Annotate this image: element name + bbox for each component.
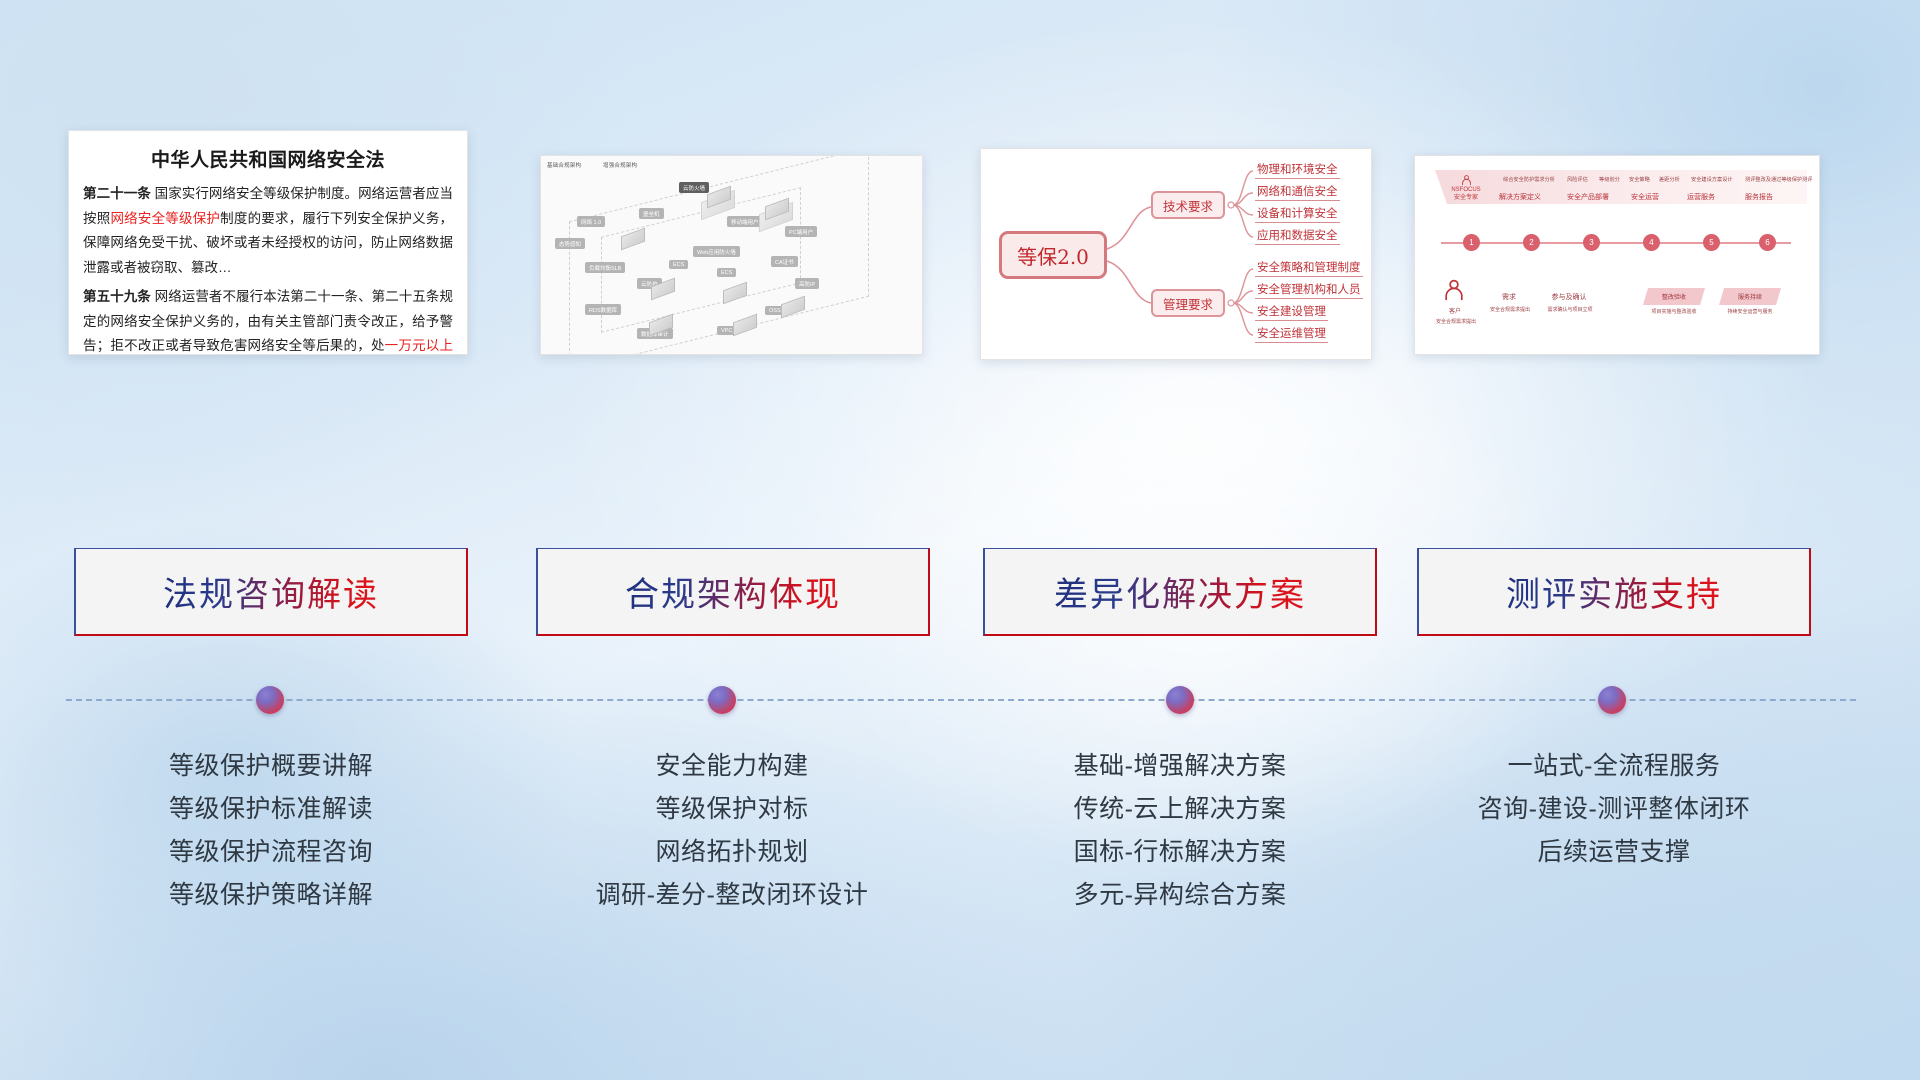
roadmap-step-1[interactable]: 2 — [1523, 234, 1540, 251]
list-item: 基础-增强解决方案 — [980, 745, 1380, 788]
arch-pill-node-8: Web应用防火墙 — [693, 246, 740, 257]
timeline-node-3[interactable] — [1166, 686, 1194, 714]
roadmap-foot-title-1: 参与及确认 — [1541, 292, 1597, 302]
roadmap-step-3[interactable]: 4 — [1643, 234, 1660, 251]
law-body: 第二十一条 国家实行网络安全等级保护制度。网络运营者应当按照网络安全等级保护制度… — [69, 182, 467, 355]
list-item: 咨询-建设-测评整体闭环 — [1414, 788, 1814, 831]
timeline-dashed-line — [66, 699, 1856, 701]
roadmap-top-label-7: 测评整改及通过等级保护测评 — [1745, 176, 1812, 183]
card-architecture-diagram[interactable]: 基础合规架构 增强合规架构 云防火墙 堡垒机 网络 1.0 态势感知 负载均衡S… — [540, 155, 923, 355]
roadmap-step-5[interactable]: 6 — [1759, 234, 1776, 251]
timeline-node-circle-2 — [708, 686, 736, 714]
roadmap-timeline-line — [1441, 242, 1791, 244]
arch-header-right: 增强合规架构 — [603, 161, 637, 169]
arch-pill-node-0: 堡垒机 — [639, 208, 664, 219]
mindmap-leaf-tech-0: 物理和环境安全 — [1255, 161, 1340, 179]
list-item: 网络拓扑规划 — [532, 831, 932, 874]
roadmap-service-4: 服务报告 — [1745, 192, 1773, 202]
architecture-canvas: 基础合规架构 增强合规架构 云防火墙 堡垒机 网络 1.0 态势感知 负载均衡S… — [541, 156, 922, 354]
arch-pill-node-5: 网络 1.0 — [577, 216, 605, 227]
arch-pill-node-10: ECS — [717, 268, 736, 277]
law-article-59-label: 第五十九条 — [83, 289, 151, 304]
list-item: 多元-异构综合方案 — [980, 874, 1380, 917]
roadmap-canvas: NSFOCUS 安全专家 综合安全防护需求分析 风险评估 等级划分 安全策略 差… — [1415, 156, 1819, 354]
list-item: 安全能力构建 — [532, 745, 932, 788]
card-roadmap[interactable]: NSFOCUS 安全专家 综合安全防护需求分析 风险评估 等级划分 安全策略 差… — [1414, 155, 1820, 355]
roadmap-top-label-5: 安全建设方案设计 — [1691, 176, 1733, 183]
roadmap-foot-title-0: 需求 — [1489, 292, 1529, 302]
roadmap-chip-2: 整改验收 — [1643, 288, 1705, 305]
banner-label-0: 法规咨询解读 — [163, 567, 379, 616]
roadmap-service-0: 解决方案定义 — [1499, 192, 1541, 202]
list-item: 国标-行标解决方案 — [980, 831, 1380, 874]
roadmap-top-label-0: 综合安全防护需求分析 — [1503, 176, 1555, 183]
roadmap-foot-sub-3: 持续安全运营与服务 — [1709, 308, 1791, 315]
card-law-text[interactable]: 中华人民共和国网络安全法 第二十一条 国家实行网络安全等级保护制度。网络运营者应… — [68, 130, 468, 355]
arch-pill-firewall: 云防火墙 — [679, 182, 709, 193]
law-article-21: 第二十一条 国家实行网络安全等级保护制度。网络运营者应当按照网络安全等级保护制度… — [83, 182, 453, 280]
feature-list-2: 安全能力构建 等级保护对标 网络拓扑规划 调研-差分-整改闭环设计 — [532, 745, 932, 917]
mindmap-leaf-mgmt-3: 安全运维管理 — [1255, 325, 1328, 343]
law-article-21-highlight: 网络安全等级保护 — [110, 211, 220, 226]
law-article-59: 第五十九条 网络运营者不履行本法第二十一条、第二十五条规定的网络安全保护义务的，… — [83, 285, 453, 355]
arch-pill-node-11: CA证书 — [771, 256, 798, 267]
feature-list-1: 等级保护概要讲解 等级保护标准解读 等级保护流程咨询 等级保护策略详解 — [71, 745, 471, 917]
arch-pill-node-9: 负载均衡SLB — [585, 262, 625, 273]
law-title: 中华人民共和国网络安全法 — [69, 145, 467, 172]
list-item: 一站式-全流程服务 — [1414, 745, 1814, 788]
roadmap-foot-sub-2: 项目实施与整改验收 — [1633, 308, 1715, 315]
list-item: 等级保护策略详解 — [71, 874, 471, 917]
mindmap-leaf-tech-1: 网络和通信安全 — [1255, 183, 1340, 201]
card-row: 中华人民共和国网络安全法 第二十一条 国家实行网络安全等级保护制度。网络运营者应… — [0, 0, 1920, 440]
arch-header-left: 基础合规架构 — [547, 161, 581, 169]
roadmap-chip-3: 服务持续 — [1719, 288, 1781, 305]
list-item: 等级保护概要讲解 — [71, 745, 471, 788]
timeline-node-circle-1 — [256, 686, 284, 714]
roadmap-brand-line1: NSFOCUS — [1451, 187, 1480, 195]
feature-list-3: 基础-增强解决方案 传统-云上解决方案 国标-行标解决方案 多元-异构综合方案 — [980, 745, 1380, 917]
list-item: 后续运营支撑 — [1414, 831, 1814, 874]
mindmap-leaf-mgmt-0: 安全策略和管理制度 — [1255, 259, 1363, 277]
roadmap-customer-label: 客户 — [1435, 306, 1475, 315]
timeline-node-1[interactable] — [256, 686, 284, 714]
list-item: 等级保护标准解读 — [71, 788, 471, 831]
roadmap-step-4[interactable]: 5 — [1703, 234, 1720, 251]
banner-differentiated-solution[interactable]: 差异化解决方案 — [983, 548, 1377, 636]
user-shield-icon — [1460, 174, 1473, 187]
roadmap-service-2: 安全运营 — [1631, 192, 1659, 202]
timeline-node-2[interactable] — [708, 686, 736, 714]
arch-pill-node-15: RDS数据库 — [585, 304, 621, 315]
banner-label-1: 合规架构体现 — [625, 567, 841, 616]
banner-label-3: 测评实施支持 — [1506, 567, 1722, 616]
roadmap-step-0[interactable]: 1 — [1463, 234, 1480, 251]
roadmap-brand: NSFOCUS 安全专家 — [1439, 172, 1493, 204]
roadmap-top-label-1: 风险评估 — [1567, 176, 1588, 183]
roadmap-top-label-3: 安全策略 — [1629, 176, 1650, 183]
timeline-node-circle-4 — [1598, 686, 1626, 714]
arch-pill-node-10b: ECS — [669, 260, 688, 269]
arch-pill-node-6: PC端用户 — [785, 226, 817, 237]
mindmap-canvas: 等保2.0 技术要求 管理要求 物理和环境安全 网络和通信安全 设备和计算安全 … — [981, 149, 1371, 359]
timeline-node-4[interactable] — [1598, 686, 1626, 714]
mindmap-leaf-mgmt-1: 安全管理机构和人员 — [1255, 281, 1363, 299]
mindmap-leaf-tech-3: 应用和数据安全 — [1255, 227, 1340, 245]
arch-pill-node-7: 移动端用户 — [727, 216, 763, 227]
banner-assessment-support[interactable]: 测评实施支持 — [1417, 548, 1811, 636]
roadmap-customer-sub: 安全合规需求提出 — [1425, 318, 1487, 325]
mindmap-leaf-tech-2: 设备和计算安全 — [1255, 205, 1340, 223]
roadmap-brand-line2: 安全专家 — [1454, 195, 1478, 203]
mindmap-root-node[interactable]: 等保2.0 — [999, 231, 1107, 279]
feature-list-4: 一站式-全流程服务 咨询-建设-测评整体闭环 后续运营支撑 — [1414, 745, 1814, 874]
banner-label-2: 差异化解决方案 — [1054, 567, 1306, 616]
arch-pill-node-12: 高防IP — [795, 278, 819, 289]
list-item: 等级保护流程咨询 — [71, 831, 471, 874]
roadmap-foot-sub-1: 需求确认与项目立项 — [1533, 306, 1607, 313]
roadmap-service-3: 运营服务 — [1687, 192, 1715, 202]
mindmap-branch-tech[interactable]: 技术要求 — [1151, 191, 1225, 219]
card-mindmap[interactable]: 等保2.0 技术要求 管理要求 物理和环境安全 网络和通信安全 设备和计算安全 … — [980, 148, 1372, 360]
list-item: 传统-云上解决方案 — [980, 788, 1380, 831]
roadmap-top-label-2: 等级划分 — [1599, 176, 1620, 183]
list-item: 等级保护对标 — [532, 788, 932, 831]
customer-icon — [1441, 278, 1467, 304]
roadmap-step-2[interactable]: 3 — [1583, 234, 1600, 251]
banner-compliance-architecture[interactable]: 合规架构体现 — [536, 548, 930, 636]
roadmap-service-1: 安全产品部署 — [1567, 192, 1609, 202]
list-item: 调研-差分-整改闭环设计 — [532, 874, 932, 917]
arch-pill-node-4: 态势感知 — [555, 238, 585, 249]
mindmap-leaf-mgmt-2: 安全建设管理 — [1255, 303, 1328, 321]
roadmap-top-label-4: 差距分析 — [1659, 176, 1680, 183]
law-article-21-label: 第二十一条 — [83, 186, 151, 201]
banner-legal-consulting[interactable]: 法规咨询解读 — [74, 548, 468, 636]
mindmap-branch-mgmt[interactable]: 管理要求 — [1151, 289, 1225, 317]
timeline-node-circle-3 — [1166, 686, 1194, 714]
